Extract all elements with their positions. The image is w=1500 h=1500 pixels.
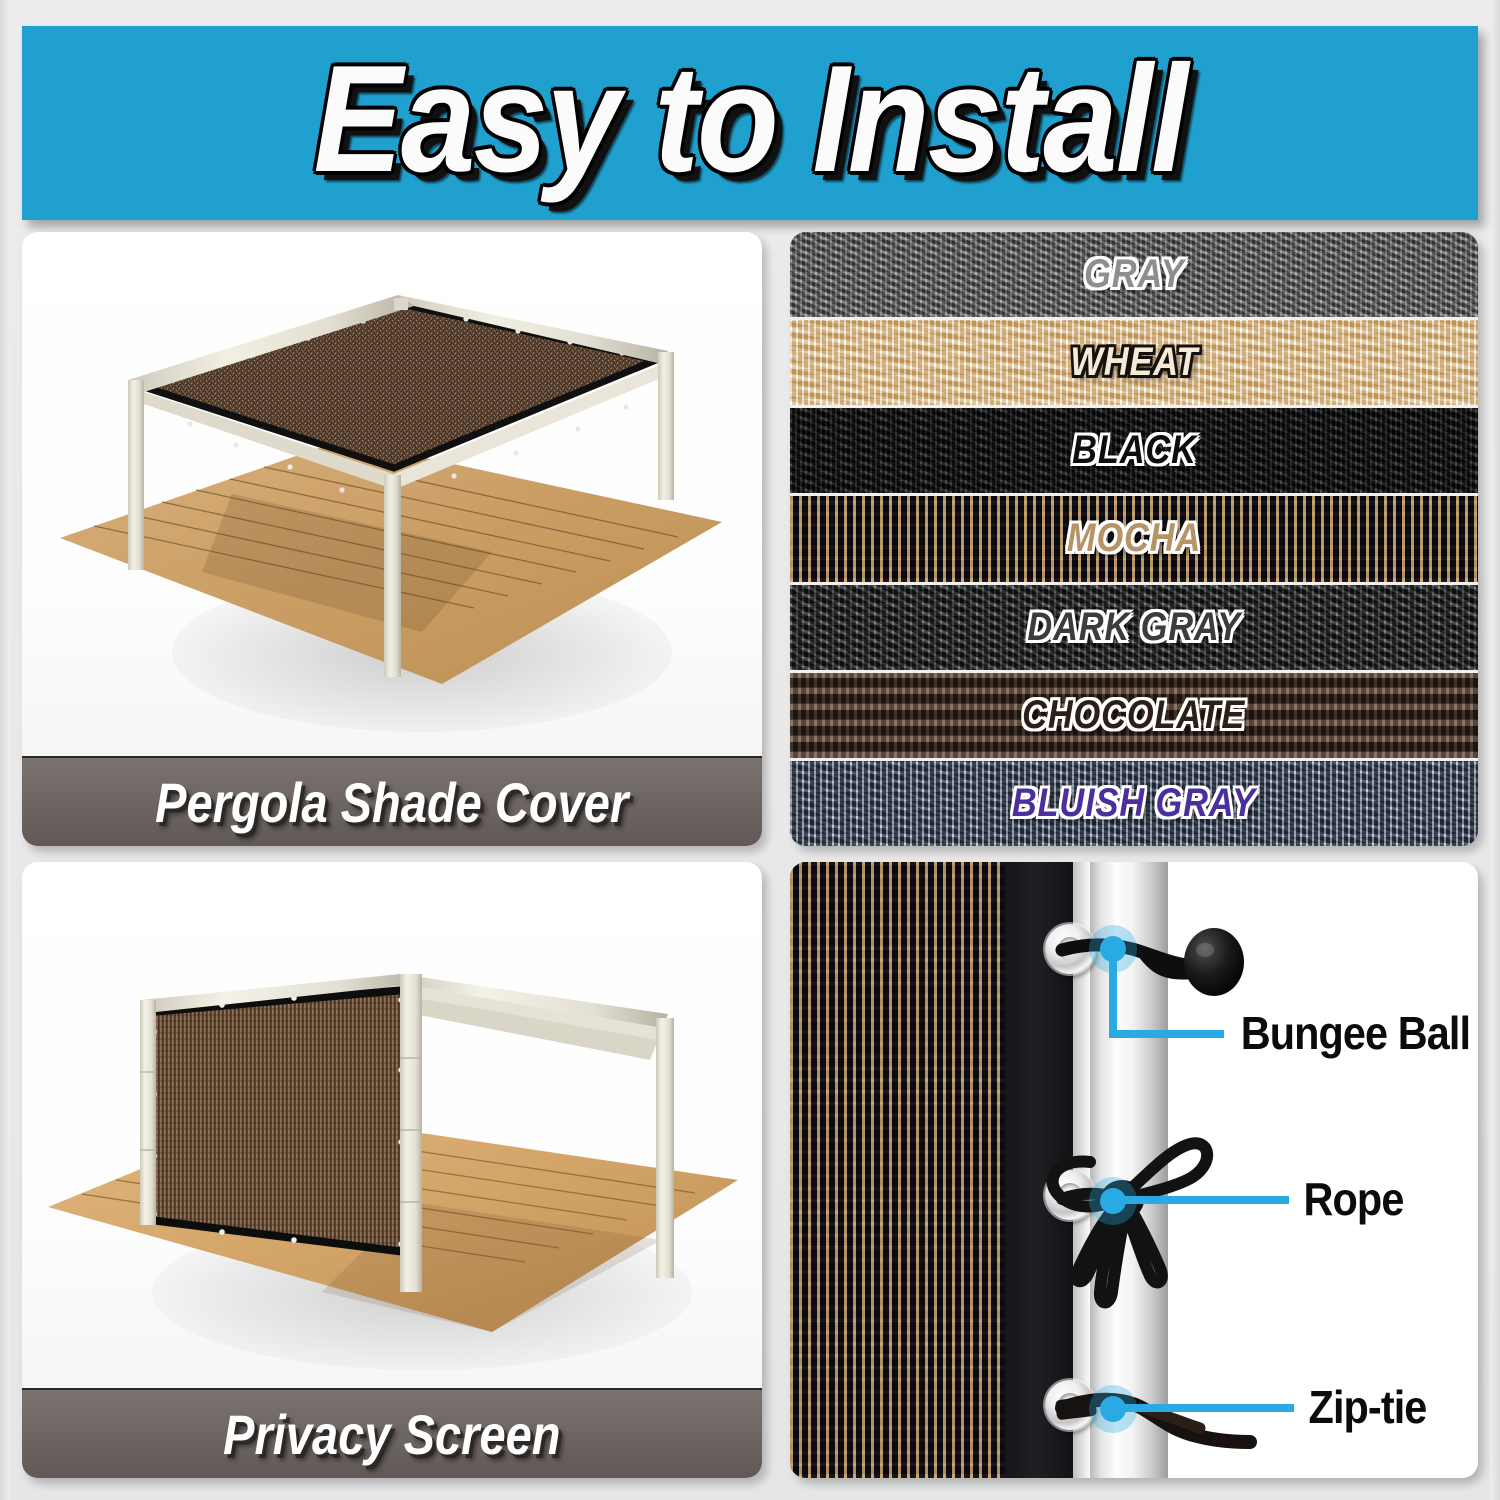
panel-color-swatches: GRAY WHEAT BLACK MOCHA DARK GRAY CHOCOLA xyxy=(790,232,1478,846)
privacy-photo xyxy=(22,862,762,1390)
swatch-dark-gray[interactable]: DARK GRAY xyxy=(790,585,1478,673)
swatch-chocolate[interactable]: CHOCOLATE xyxy=(790,673,1478,761)
swatch-label-mocha: MOCHA xyxy=(1067,516,1201,561)
callout-dot-ziptie xyxy=(1100,1396,1126,1422)
right-edge-gradient xyxy=(1490,0,1500,1500)
swatch-label-gray: GRAY xyxy=(1084,252,1184,297)
callout-dot-bungee xyxy=(1100,936,1126,962)
post-back xyxy=(394,298,408,310)
post-left xyxy=(128,380,144,570)
swatch-label-chocolate: CHOCOLATE xyxy=(1022,693,1245,738)
mocha-fabric-swatch xyxy=(790,862,1005,1478)
color-swatch-list: GRAY WHEAT BLACK MOCHA DARK GRAY CHOCOLA xyxy=(790,232,1478,846)
grommet-rope xyxy=(1045,1170,1095,1220)
pergola-caption-bar: Pergola Shade Cover xyxy=(22,756,762,846)
privacy-caption-bar: Privacy Screen xyxy=(22,1388,762,1478)
swatch-label-bluish-gray: BLUISH GRAY xyxy=(1012,781,1256,826)
swatch-black[interactable]: BLACK xyxy=(790,408,1478,496)
panel-pergola-shade-cover: Pergola Shade Cover xyxy=(22,232,762,846)
swatch-label-wheat: WHEAT xyxy=(1070,340,1198,385)
callout-label-bungee-ball: Bungee Ball xyxy=(1241,1006,1470,1060)
marketing-image-canvas: Easy to Install xyxy=(0,0,1500,1500)
left-edge-gradient xyxy=(0,0,10,1500)
pergola-photo xyxy=(22,232,762,758)
callout-label-zip-tie: Zip-tie xyxy=(1309,1380,1427,1434)
callout-label-rope: Rope xyxy=(1304,1172,1404,1226)
post-right xyxy=(658,352,674,500)
privacy-caption-text: Privacy Screen xyxy=(223,1402,560,1467)
post-right-2 xyxy=(656,1018,674,1278)
hardware-scene: Bungee Ball Rope xyxy=(790,862,1478,1478)
pergola-illustration xyxy=(22,232,762,758)
panel-hardware-callouts: Bungee Ball Rope xyxy=(790,862,1478,1478)
privacy-screen-illustration xyxy=(22,862,762,1390)
swatch-gray[interactable]: GRAY xyxy=(790,232,1478,320)
privacy-mesh-panel xyxy=(150,990,405,1252)
page-title: Easy to Install xyxy=(313,43,1186,195)
callout-line-bungee-h xyxy=(1109,1030,1224,1038)
bungee-ball-knob xyxy=(1184,928,1244,996)
swatch-wheat[interactable]: WHEAT xyxy=(790,320,1478,408)
swatch-mocha[interactable]: MOCHA xyxy=(790,496,1478,584)
grommet-ziptie xyxy=(1045,1380,1095,1430)
grommet-bungee xyxy=(1045,924,1095,974)
post-bl xyxy=(140,1000,156,1225)
swatch-label-dark-gray: DARK GRAY xyxy=(1027,605,1241,650)
swatch-bluish-gray[interactable]: BLUISH GRAY xyxy=(790,761,1478,846)
callout-dot-rope xyxy=(1100,1188,1126,1214)
post-front xyxy=(384,475,401,677)
header-banner: Easy to Install xyxy=(22,26,1478,220)
post-front-2 xyxy=(400,974,422,1292)
pergola-caption-text: Pergola Shade Cover xyxy=(155,770,628,835)
swatch-label-black: BLACK xyxy=(1072,428,1197,473)
panel-privacy-screen: Privacy Screen xyxy=(22,862,762,1478)
